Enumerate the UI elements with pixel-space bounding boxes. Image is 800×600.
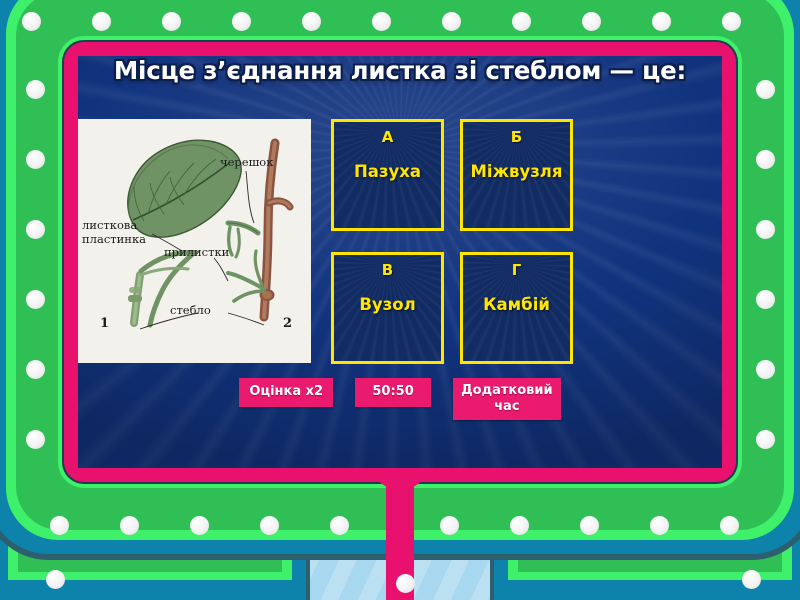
marquee-bulb <box>722 12 741 31</box>
marquee-bulb <box>650 516 669 535</box>
marquee-bulb <box>46 570 65 589</box>
marquee-bulb <box>92 12 111 31</box>
label-specimen-2: 2 <box>283 316 292 331</box>
leaf-stem-diagram-svg: черешок листкова пластинка прилистки сте… <box>78 119 311 363</box>
answer-option-a[interactable]: АПазуха <box>331 119 444 231</box>
marquee-bulb <box>756 150 775 169</box>
marquee-bulb <box>232 12 251 31</box>
marquee-bulb <box>372 12 391 31</box>
marquee-bulb <box>120 516 139 535</box>
marquee-bulb <box>396 574 415 593</box>
powerup-fifty-fifty[interactable]: 50:50 <box>355 378 431 407</box>
answer-grid: АПазухаБМіжвузляВВузолГКамбій <box>331 119 573 364</box>
label-blade-line1: листкова <box>82 218 137 232</box>
label-specimen-1: 1 <box>100 316 109 331</box>
answer-option-v[interactable]: ВВузол <box>331 252 444 364</box>
marquee-bulb <box>22 12 41 31</box>
marquee-bulb <box>190 516 209 535</box>
powerup-label-line: Додатковий <box>461 383 553 399</box>
answer-option-h[interactable]: ГКамбій <box>460 252 573 364</box>
question-title: Місце з’єднання листка зі стеблом — це: <box>0 56 800 85</box>
marquee-bulb <box>720 516 739 535</box>
answer-option-b[interactable]: БМіжвузля <box>460 119 573 231</box>
answer-letter: А <box>382 128 394 146</box>
marquee-bulb <box>756 430 775 449</box>
answer-text: Пазуха <box>350 163 425 182</box>
label-stipules: прилистки <box>164 245 230 259</box>
marquee-bulb <box>26 150 45 169</box>
marquee-bulb <box>582 12 601 31</box>
marquee-bulb <box>26 360 45 379</box>
answer-text: Камбій <box>479 296 554 315</box>
label-blade-line2: пластинка <box>82 232 146 246</box>
marquee-bulb <box>442 12 461 31</box>
marquee-bulb <box>756 360 775 379</box>
label-petiole: черешок <box>220 155 274 169</box>
marquee-bulb <box>26 220 45 239</box>
marquee-bulb <box>26 430 45 449</box>
powerup-label-line: 50:50 <box>365 385 421 400</box>
marquee-bulb <box>302 12 321 31</box>
powerup-extra-time[interactable]: Додатковийчас <box>453 378 561 420</box>
marquee-bulb <box>26 290 45 309</box>
powerup-double-score[interactable]: Оцінка х2 <box>239 378 333 407</box>
marquee-bulb <box>756 220 775 239</box>
powerup-label-line: час <box>461 399 553 415</box>
answer-text: Вузол <box>355 296 419 315</box>
marquee-bulb <box>330 516 349 535</box>
answer-text: Міжвузля <box>467 163 567 182</box>
question-illustration: черешок листкова пластинка прилистки сте… <box>78 119 311 363</box>
marquee-bulb <box>510 516 529 535</box>
marquee-bulb <box>742 570 761 589</box>
marquee-bulb <box>440 516 459 535</box>
marquee-bulb <box>50 516 69 535</box>
label-stem: стебло <box>170 303 211 317</box>
answer-letter: В <box>382 261 393 279</box>
powerup-label-line: Оцінка х2 <box>249 385 323 400</box>
marquee-bulb <box>652 12 671 31</box>
marquee-bulb <box>162 12 181 31</box>
answer-letter: Г <box>512 261 522 279</box>
marquee-bulb <box>580 516 599 535</box>
quiz-stage: Місце з’єднання листка зі стеблом — це: <box>0 0 800 600</box>
marquee-bulb <box>260 516 279 535</box>
answer-letter: Б <box>511 128 522 146</box>
marquee-bulb <box>756 290 775 309</box>
marquee-bulb <box>512 12 531 31</box>
powerup-bar: Оцінка х250:50Додатковийчас <box>78 378 722 420</box>
